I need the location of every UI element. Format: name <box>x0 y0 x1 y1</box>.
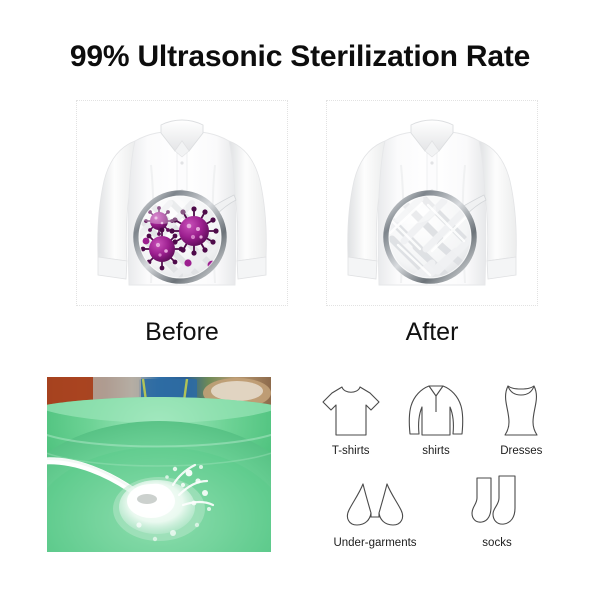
after-panel <box>326 100 538 306</box>
garment-label: Under-garments <box>333 537 416 550</box>
page-title: 99% Ultrasonic Sterilization Rate <box>0 40 600 74</box>
garment-label: socks <box>482 537 511 550</box>
garment-label: T-shirts <box>332 445 370 458</box>
after-caption: After <box>326 318 538 347</box>
before-shirt-stage <box>77 101 287 305</box>
garment-item-undergarments: Under-garments <box>327 470 423 550</box>
after-shirt-stage <box>327 101 537 305</box>
dress-icon <box>490 378 552 440</box>
ultrasonic-cleaner-photo-art <box>47 377 271 552</box>
bra-icon <box>339 470 411 532</box>
garment-label: shirts <box>422 445 449 458</box>
socks-icon <box>469 470 525 532</box>
garment-row-2: Under-garments socks <box>316 470 556 550</box>
tshirt-icon <box>320 378 382 440</box>
before-panel <box>76 100 288 306</box>
garment-item-socks: socks <box>449 470 545 550</box>
garment-label: Dresses <box>500 445 542 458</box>
garment-item-shirt: shirts <box>401 378 470 458</box>
garment-item-tshirt: T-shirts <box>316 378 385 458</box>
before-caption: Before <box>76 318 288 347</box>
magnifier-with-bacteria <box>126 179 238 297</box>
garment-row-1: T-shirts shirts Dresses <box>316 378 556 458</box>
ultrasonic-cleaner-photo <box>47 377 271 552</box>
garment-item-dress: Dresses <box>487 378 556 458</box>
shirt-icon <box>405 378 467 440</box>
supported-garments-group: T-shirts shirts Dresses <box>316 378 556 560</box>
magnifier-clean-fabric <box>376 179 488 297</box>
